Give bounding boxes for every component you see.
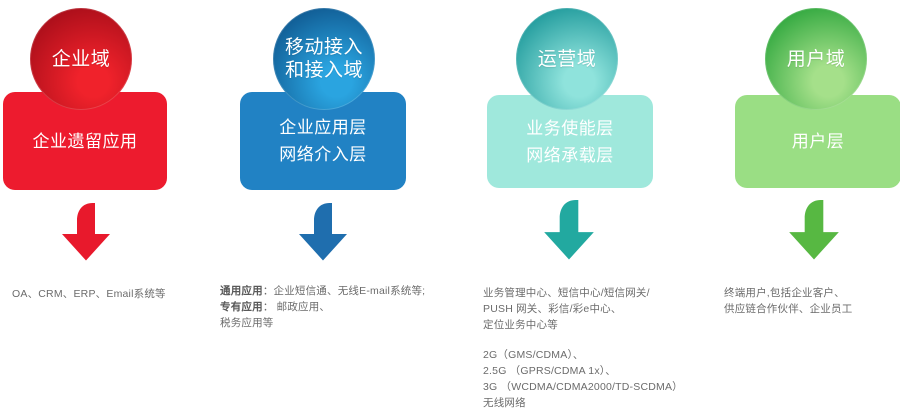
caption-line-text: 业务管理中心、短信中心/短信网关/ [483, 287, 650, 299]
caption-block: 2G（GMS/CDMA）、2.5G （GPRS/CDMA 1x）、3G （WCD… [483, 347, 683, 411]
diagram-canvas: 企业遗留应用企业域OA、CRM、ERP、Email系统等企业应用层 网络介入层移… [0, 0, 900, 404]
domain-circle-label: 用户域 [787, 48, 846, 71]
caption-line-text: OA、CRM、ERP、Email系统等 [12, 288, 166, 300]
caption-line-text: 终端用户,包括企业客户、 [724, 287, 845, 299]
caption-line: PUSH 网关、彩信/彩e中心、 [483, 301, 683, 317]
caption-line-text: PUSH 网关、彩信/彩e中心、 [483, 303, 622, 315]
caption-user-domain: 终端用户,包括企业客户、供应链合作伙伴、企业员工 [724, 285, 852, 317]
layer-box-label: 用户层 [792, 128, 845, 155]
domain-circle-user-domain[interactable]: 用户域 [765, 8, 867, 110]
caption-line-text: 无线网络 [483, 397, 526, 409]
down-arrow-icon [298, 203, 348, 261]
caption-line-emphasis: 通用应用 [220, 285, 263, 297]
caption-line: 2G（GMS/CDMA）、 [483, 347, 683, 363]
domain-circle-enterprise-domain[interactable]: 企业域 [30, 8, 132, 110]
caption-line-text: 2.5G （GPRS/CDMA 1x）、 [483, 365, 616, 377]
domain-circle-label: 企业域 [52, 48, 111, 71]
caption-line: 终端用户,包括企业客户、 [724, 285, 852, 301]
layer-box-label: 业务使能层 网络承载层 [526, 115, 614, 169]
caption-operation-domain: 业务管理中心、短信中心/短信网关/PUSH 网关、彩信/彩e中心、定位业务中心等… [483, 285, 683, 411]
caption-line: 专有应用： 邮政应用、 [220, 299, 425, 315]
domain-circle-label: 运营域 [538, 48, 597, 71]
layer-box-label: 企业遗留应用 [33, 128, 138, 155]
down-arrow-icon [543, 200, 595, 260]
caption-line: OA、CRM、ERP、Email系统等 [12, 286, 166, 302]
caption-block: 业务管理中心、短信中心/短信网关/PUSH 网关、彩信/彩e中心、定位业务中心等 [483, 285, 683, 333]
caption-line-text: 2G（GMS/CDMA）、 [483, 349, 584, 361]
domain-circle-operation-domain[interactable]: 运营域 [516, 8, 618, 110]
caption-line-emphasis: 专有应用 [220, 301, 263, 313]
caption-block: 终端用户,包括企业客户、供应链合作伙伴、企业员工 [724, 285, 852, 317]
diagram-column-mobile-access-domain: 企业应用层 网络介入层移动接入 和接入域通用应用：企业短信通、无线E-mail系… [225, 0, 450, 404]
caption-line-text: 3G （WCDMA/CDMA2000/TD-SCDMA） [483, 381, 683, 393]
caption-line: 3G （WCDMA/CDMA2000/TD-SCDMA） [483, 379, 683, 395]
diagram-column-enterprise-domain: 企业遗留应用企业域OA、CRM、ERP、Email系统等 [0, 0, 225, 404]
down-arrow-icon [788, 200, 840, 260]
caption-line-text: ：企业短信通、无线E-mail系统等; [263, 285, 425, 297]
caption-line-text: 税务应用等 [220, 317, 274, 329]
caption-line: 无线网络 [483, 395, 683, 411]
down-arrow-icon [61, 203, 111, 261]
caption-line: 业务管理中心、短信中心/短信网关/ [483, 285, 683, 301]
caption-enterprise-domain: OA、CRM、ERP、Email系统等 [12, 286, 166, 302]
caption-line: 税务应用等 [220, 315, 425, 331]
diagram-column-operation-domain: 业务使能层 网络承载层运营域业务管理中心、短信中心/短信网关/PUSH 网关、彩… [460, 0, 685, 404]
caption-line-text: ： 邮政应用、 [263, 301, 330, 313]
caption-line: 2.5G （GPRS/CDMA 1x）、 [483, 363, 683, 379]
domain-circle-label: 移动接入 和接入域 [285, 36, 363, 82]
caption-mobile-access-domain: 通用应用：企业短信通、无线E-mail系统等;专有应用： 邮政应用、税务应用等 [220, 283, 425, 331]
caption-line-text: 定位业务中心等 [483, 319, 558, 331]
layer-box-label: 企业应用层 网络介入层 [279, 114, 367, 168]
caption-block: OA、CRM、ERP、Email系统等 [12, 286, 166, 302]
caption-block: 通用应用：企业短信通、无线E-mail系统等;专有应用： 邮政应用、税务应用等 [220, 283, 425, 331]
diagram-column-user-domain: 用户层用户域终端用户,包括企业客户、供应链合作伙伴、企业员工 [690, 0, 900, 404]
domain-circle-mobile-access-domain[interactable]: 移动接入 和接入域 [273, 8, 375, 110]
caption-line: 供应链合作伙伴、企业员工 [724, 301, 852, 317]
caption-line-text: 供应链合作伙伴、企业员工 [724, 303, 852, 315]
caption-line: 定位业务中心等 [483, 317, 683, 333]
caption-line: 通用应用：企业短信通、无线E-mail系统等; [220, 283, 425, 299]
